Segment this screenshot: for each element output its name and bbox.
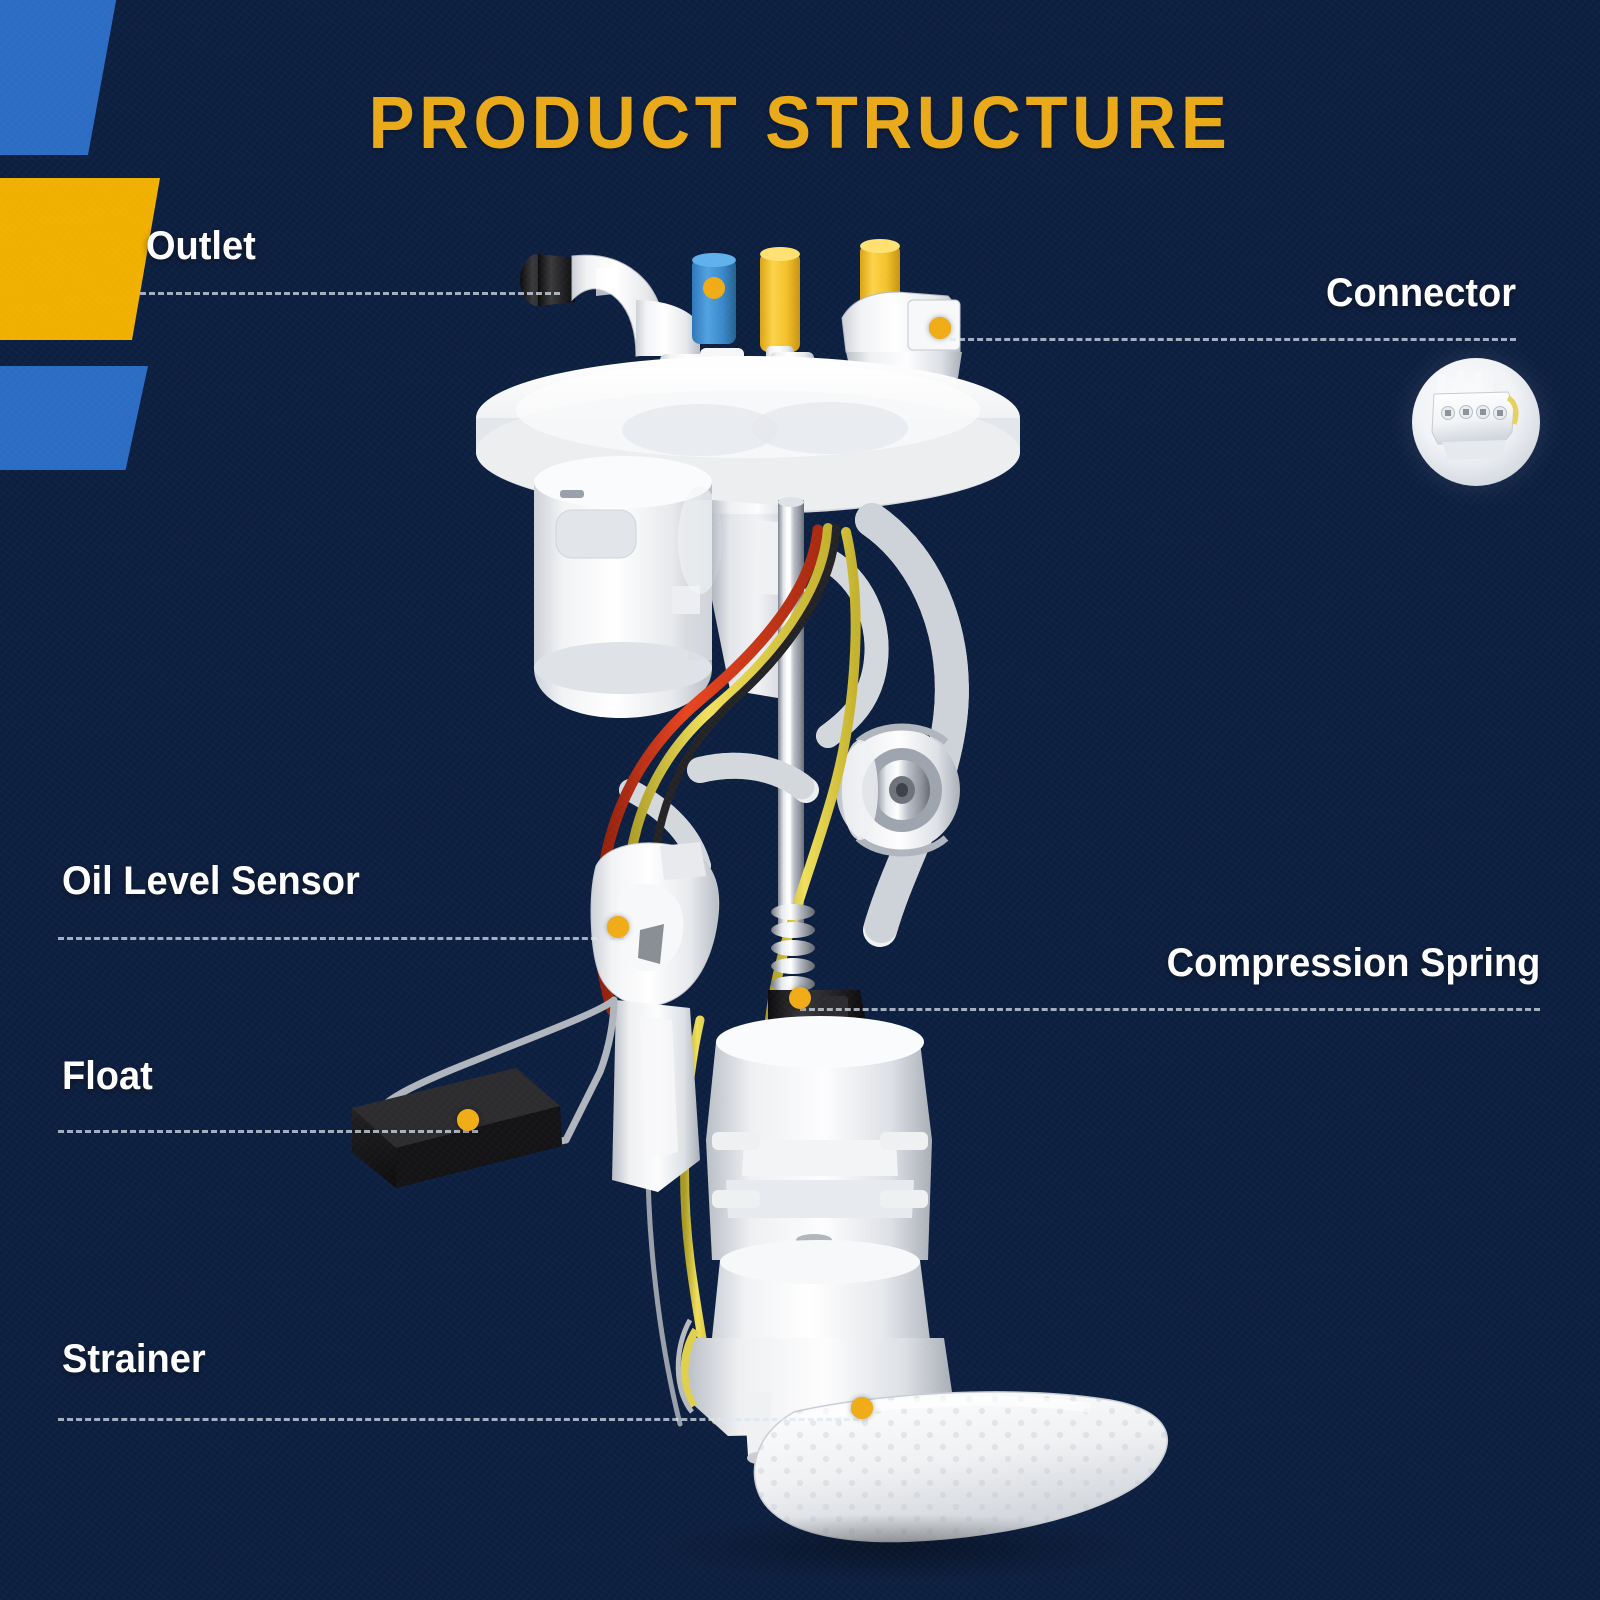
callout-leader-line-float	[58, 1130, 478, 1133]
outlet-port	[520, 254, 700, 356]
callout-oil-level-sensor: Oil Level Sensor	[62, 860, 375, 902]
callout-label-outlet: Outlet	[146, 225, 256, 267]
callout-outlet: Outlet	[146, 225, 262, 267]
callout-leader-line-strainer	[58, 1418, 868, 1421]
callout-strainer: Strainer	[62, 1338, 213, 1380]
chrome-guide-rod	[778, 497, 804, 930]
callout-marker-float	[457, 1109, 479, 1131]
callout-label-connector: Connector	[1326, 272, 1516, 314]
blue-cap	[692, 253, 736, 344]
callout-marker-compression-spring	[789, 987, 811, 1009]
callout-label-compression-spring: Compression Spring	[1166, 942, 1540, 984]
callout-leader-line-oil-level-sensor	[58, 937, 624, 940]
callout-marker-oil-level-sensor	[607, 916, 629, 938]
callout-connector: Connector	[1316, 272, 1516, 314]
float-block	[352, 1068, 562, 1188]
infographic-canvas: PRODUCT STRUCTURE	[0, 0, 1600, 1600]
connector-closeup-inset	[1412, 358, 1540, 486]
callout-float: Float	[62, 1055, 158, 1097]
callout-marker-connector	[929, 317, 951, 339]
callout-leader-line-outlet	[140, 292, 560, 295]
fuel-filter-canister	[534, 456, 722, 718]
callout-compression-spring: Compression Spring	[1147, 942, 1540, 984]
callout-label-float: Float	[62, 1055, 153, 1097]
callout-leader-line-connector	[950, 338, 1516, 341]
callout-label-oil-level-sensor: Oil Level Sensor	[62, 860, 360, 902]
callout-marker-strainer	[851, 1397, 873, 1419]
callout-leader-line-compression-spring	[800, 1008, 1540, 1011]
pressure-regulator	[836, 727, 960, 853]
callout-label-strainer: Strainer	[62, 1338, 206, 1380]
